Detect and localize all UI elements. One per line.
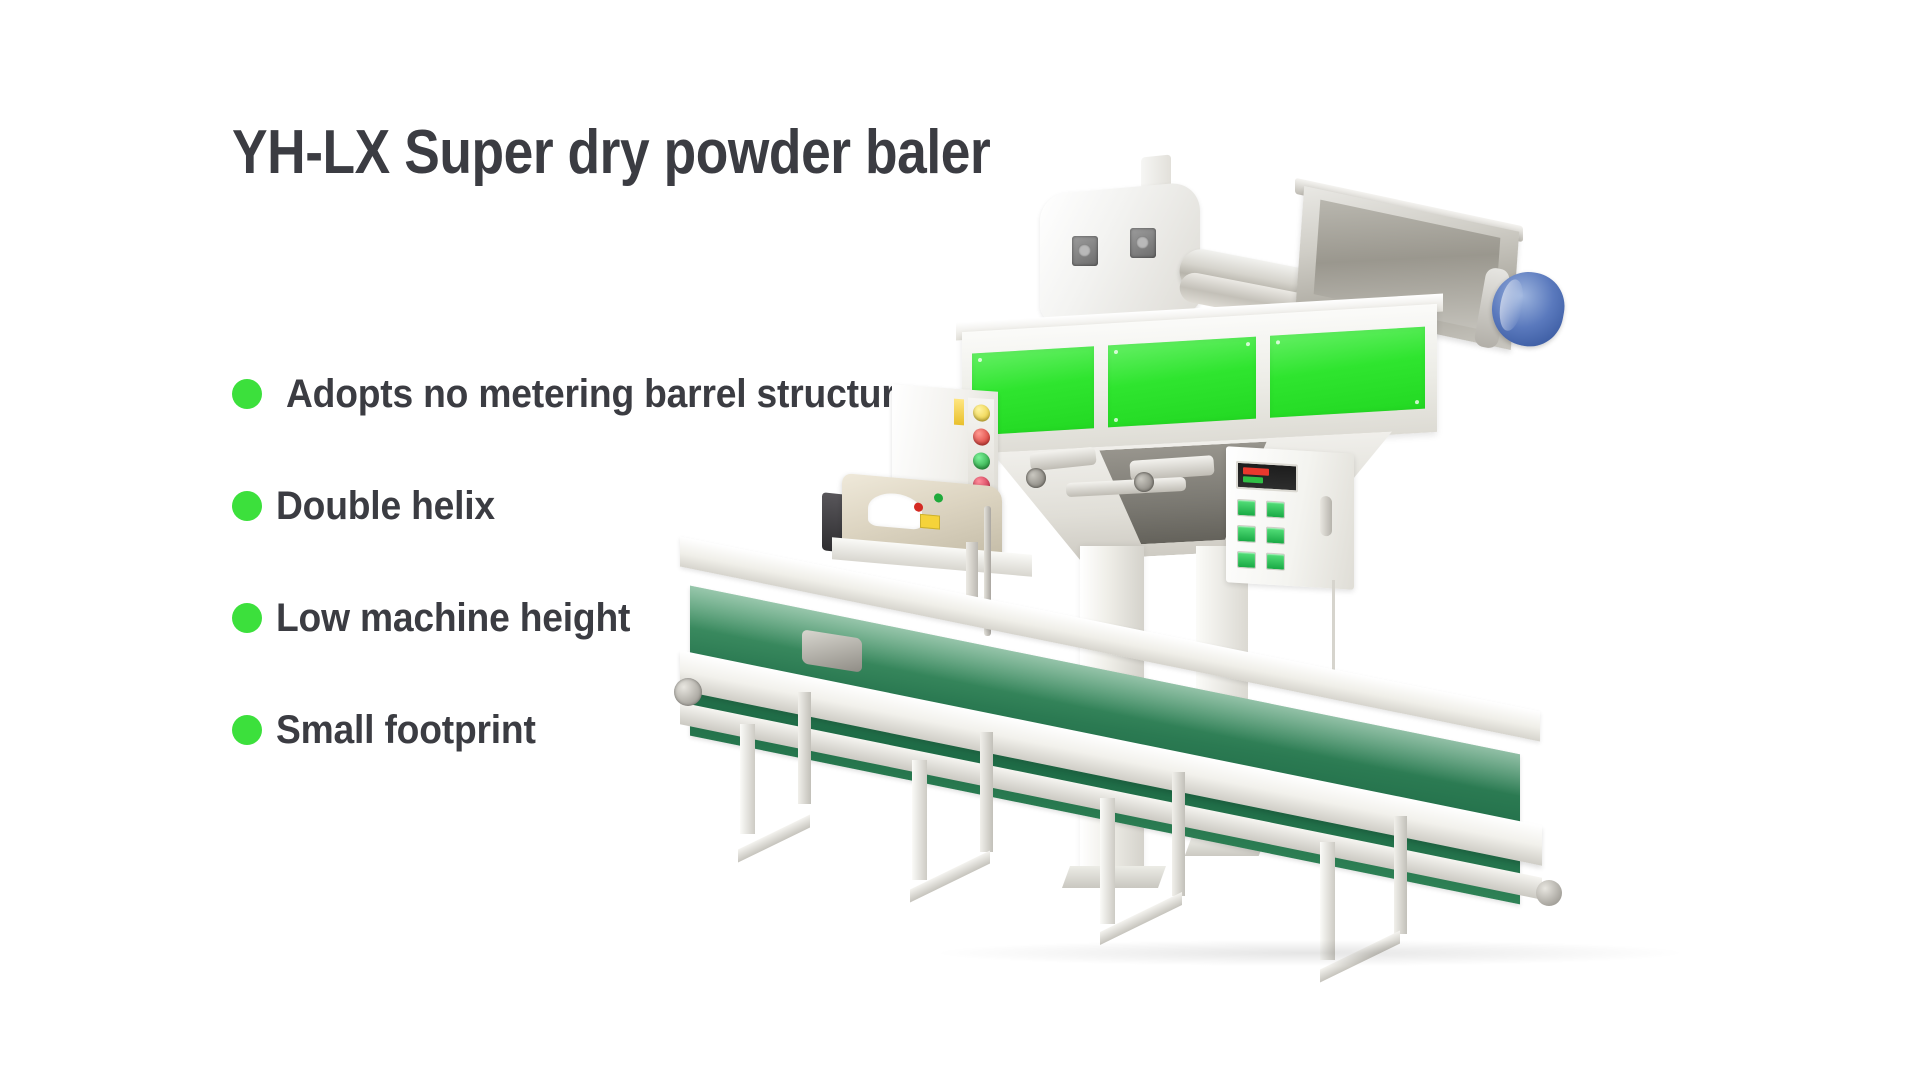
weight-display: [1236, 461, 1298, 493]
clamp-hub-icon: [1134, 472, 1154, 492]
bullet-dot-icon: [232, 603, 262, 633]
feature-label-2: Double helix: [276, 484, 495, 529]
conveyor-roller-icon: [674, 678, 702, 706]
belt-conveyor: [680, 620, 1550, 950]
conveyor-leg-rear: [980, 732, 993, 852]
sewing-indicator-green-icon: [934, 493, 943, 503]
indicator-lamp-amber-icon[interactable]: [973, 404, 990, 422]
conveyor-leg: [912, 760, 927, 880]
bullet-dot-icon: [232, 715, 262, 745]
gearbox-bolt-icon: [1130, 228, 1156, 258]
floor-shadow: [940, 940, 1680, 966]
indicator-lamp-red-icon[interactable]: [973, 428, 990, 446]
control-push-button[interactable]: [1237, 499, 1256, 517]
bullet-dot-icon: [232, 379, 262, 409]
indicator-amber-bar-icon: [954, 399, 964, 426]
bullet-dot-icon: [232, 491, 262, 521]
slide-root: YH-LX Super dry powder baler Adopts no m…: [0, 0, 1920, 1080]
conveyor-leg-rear: [1172, 772, 1185, 896]
conveyor-leg-rear: [798, 692, 811, 804]
feature-label-1: Adopts no metering barrel structure: [286, 372, 916, 417]
feature-label-3: Low machine height: [276, 596, 630, 641]
control-push-button[interactable]: [1266, 501, 1285, 519]
clamp-hub-icon: [1026, 468, 1046, 488]
control-push-button[interactable]: [1237, 525, 1256, 543]
control-push-button[interactable]: [1237, 551, 1256, 569]
gearbox-housing: [1040, 181, 1200, 325]
hopper-green-panel: [1270, 327, 1425, 418]
control-push-button[interactable]: [1266, 553, 1285, 571]
sewing-machine-label: [920, 514, 940, 530]
cabinet-latch-handle[interactable]: [1320, 496, 1332, 537]
feature-label-4: Small footprint: [276, 708, 536, 753]
control-cabinet[interactable]: [1226, 446, 1354, 590]
conveyor-roller-icon: [1536, 880, 1562, 906]
control-button-group[interactable]: [1234, 497, 1314, 580]
product-photo: [880, 150, 1890, 980]
control-push-button[interactable]: [1266, 527, 1285, 545]
conveyor-leg: [740, 724, 755, 834]
indicator-lamp-green-icon[interactable]: [973, 452, 990, 470]
sewing-indicator-red-icon: [914, 502, 923, 512]
conveyor-leg-rear: [1394, 816, 1407, 934]
hopper-green-panel: [1108, 337, 1256, 428]
conveyor-leg: [1100, 798, 1115, 924]
gearbox-bolt-icon: [1072, 236, 1098, 266]
